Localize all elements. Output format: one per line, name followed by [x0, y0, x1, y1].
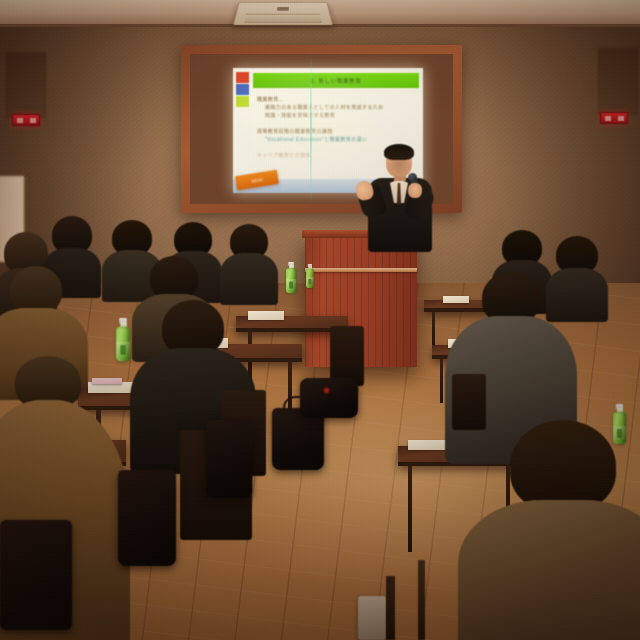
- presenter-right-hand: [408, 183, 422, 198]
- attendee-tan-jacket: [470, 420, 640, 640]
- attendee-head: [510, 420, 616, 512]
- sign-glyph: [605, 116, 611, 121]
- bag-logo-dot: [324, 388, 329, 393]
- slide-badge-text: NEW!: [251, 177, 263, 184]
- bottle-body: [116, 327, 130, 362]
- air-conditioner-icon: [233, 2, 333, 25]
- sign-glyph: [17, 118, 23, 123]
- floor-bag: [0, 520, 72, 630]
- green-tea-bottle: [286, 262, 296, 293]
- green-tea-bottle: [306, 264, 314, 288]
- handout-paper: [248, 311, 284, 320]
- wall-panel-right: [598, 48, 638, 114]
- chair-leg: [386, 576, 395, 640]
- screen-seam: [310, 54, 312, 204]
- podium-trim: [305, 268, 417, 272]
- presenter-face: [387, 159, 411, 175]
- logo-square-red: [236, 72, 249, 83]
- bottle-label: [306, 277, 314, 287]
- wall-panel-left: [6, 52, 46, 118]
- desk-leg: [432, 312, 435, 346]
- presenter: [358, 147, 444, 252]
- slide-title-bar: 3. 新しい職業教育: [253, 73, 419, 88]
- attendee-shoulders: [220, 253, 278, 305]
- presenter-hair: [384, 144, 414, 160]
- floor-object: [358, 596, 386, 640]
- ac-vent-center: [278, 7, 289, 11]
- slide-logo: [236, 72, 251, 108]
- logo-square-lime: [236, 96, 249, 107]
- bottle-body: [306, 269, 314, 288]
- slide-line: 高等教育段階の職業教育の課題: [257, 128, 415, 136]
- sign-glyph: [30, 118, 36, 123]
- slide-line: 実践力のある職業人としての人材を育成するため: [257, 104, 415, 112]
- slide-line: 職業教育…: [257, 96, 415, 104]
- handout-paper: [408, 440, 448, 450]
- attendee: [222, 224, 276, 304]
- slide-line: 知識・技能を習得させる教育: [257, 112, 415, 120]
- emergency-sign-left-icon: [12, 114, 40, 126]
- emergency-sign-right-icon: [600, 112, 628, 124]
- sign-glyph: [618, 116, 624, 121]
- attendee-chair: [452, 374, 486, 430]
- bottle-body: [286, 268, 296, 293]
- bottle-label: [116, 342, 130, 359]
- attendee-head: [10, 266, 62, 314]
- bottle-label-mark: [289, 282, 293, 289]
- floor-bag: [118, 470, 176, 566]
- attendee-shoulders: [458, 500, 640, 640]
- ac-louvers: [244, 14, 321, 22]
- logo-square-blue: [236, 84, 249, 95]
- desk-leg: [440, 359, 443, 403]
- floor-bag: [206, 420, 252, 498]
- slide-line: "Vocational Education"と職業教育の違い: [257, 136, 415, 144]
- green-tea-bottle: [116, 318, 130, 361]
- bottle-label-mark: [120, 345, 125, 355]
- slide-title-text: 3. 新しい職業教育: [311, 77, 362, 85]
- photo-scene: 3. 新しい職業教育 職業教育… 実践力のある職業人としての人材を育成するため …: [0, 0, 640, 640]
- floor-bag: [300, 378, 358, 418]
- chair-leg: [418, 560, 425, 640]
- attendee-chair: [330, 326, 364, 386]
- desk-leg: [408, 466, 412, 552]
- bottle-label: [286, 279, 296, 291]
- bottle-label-mark: [308, 279, 311, 284]
